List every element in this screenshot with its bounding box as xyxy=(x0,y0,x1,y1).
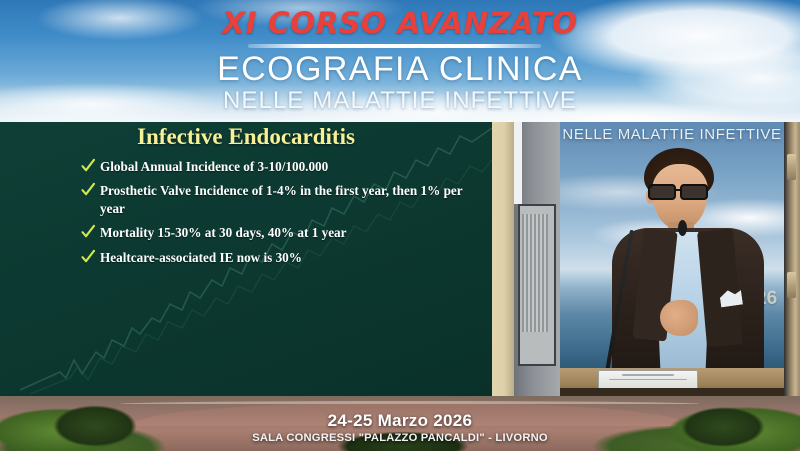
event-title-line2: NELLE MALATTIE INFETTIVE xyxy=(0,87,800,115)
speaker-hand xyxy=(660,300,698,336)
slide-title: Infective Endocarditis xyxy=(0,124,492,150)
wall-grille xyxy=(522,214,548,332)
bullet-text: Healtcare-associated IE now is 30% xyxy=(78,249,302,266)
door-hinge-icon xyxy=(787,272,796,298)
bullet-item: Healtcare-associated IE now is 30% xyxy=(0,249,492,266)
slide-panel: Infective Endocarditis Global Annual Inc… xyxy=(0,122,492,396)
bullet-text: Global Annual Incidence of 3-10/100.000 xyxy=(78,158,328,175)
bullet-item: Mortality 15-30% at 30 days, 40% at 1 ye… xyxy=(0,224,492,241)
checkmark-icon xyxy=(80,224,96,240)
room-wall-strip xyxy=(492,122,514,396)
speaker-video-panel: NELLE MALATTIE INFETTIVE 26 xyxy=(514,122,800,396)
bullet-text: Mortality 15-30% at 30 days, 40% at 1 ye… xyxy=(78,224,347,241)
eyeglasses-icon xyxy=(648,183,712,201)
podium-shadow xyxy=(560,388,784,396)
event-venue: SALA CONGRESSI "PALAZZO PANCALDI" - LIVO… xyxy=(0,432,800,444)
speaker-figure xyxy=(560,122,784,396)
door-hinge-icon xyxy=(787,154,796,180)
room-left-wall xyxy=(514,122,560,396)
checkmark-icon xyxy=(80,182,96,198)
slide-bullet-list: Global Annual Incidence of 3-10/100.000 … xyxy=(0,158,492,273)
bullet-item: Prosthetic Valve Incidence of 1-4% in th… xyxy=(0,182,492,217)
room-right-door xyxy=(784,122,800,396)
event-date: 24-25 Marzo 2026 xyxy=(0,411,800,431)
checkmark-icon xyxy=(80,158,96,174)
bullet-item: Global Annual Incidence of 3-10/100.000 xyxy=(0,158,492,175)
garden-kerb xyxy=(120,401,700,404)
microphone-head-icon xyxy=(678,220,687,236)
nameplate-line xyxy=(609,379,687,381)
header-divider-rule xyxy=(248,44,541,48)
nameplate-line xyxy=(622,374,674,376)
event-title-line1: ECOGRAFIA CLINICA xyxy=(0,50,800,89)
speaker-nameplate xyxy=(598,370,698,390)
door-post xyxy=(514,122,522,204)
course-edition-title: XI CORSO AVANZATO xyxy=(0,6,800,40)
bullet-text: Prosthetic Valve Incidence of 1-4% in th… xyxy=(78,182,466,217)
presentation-recording-frame: XI CORSO AVANZATO ECOGRAFIA CLINICA NELL… xyxy=(0,0,800,451)
checkmark-icon xyxy=(80,249,96,265)
